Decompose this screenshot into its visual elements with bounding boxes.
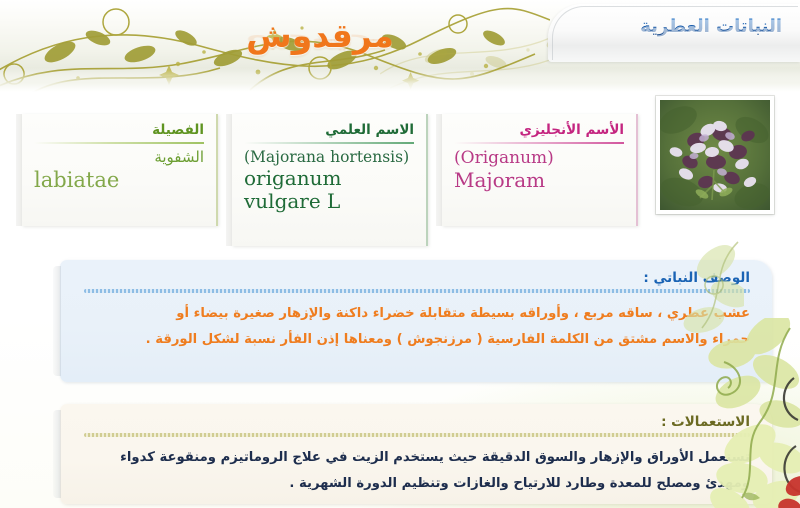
panel-description-rule [84, 289, 750, 293]
panel-uses-line-2: ومهدئ ومصلح للمعدة وطارد للارتياح والغاز… [84, 471, 750, 497]
panel-description-line-2: حمراء والاسم مشتق من الكلمة الفارسية ( م… [84, 327, 750, 353]
panel-uses-title: الاستعمالات : [84, 414, 750, 433]
card-english-synonym: (Origanum) [454, 149, 624, 169]
panel-uses-rule [84, 433, 750, 437]
card-scientific-synonym: (Majorana hortensis) [244, 149, 414, 167]
card-english-title: الأسم الأنجليزي [454, 122, 624, 142]
card-english-name: الأسم الأنجليزي (Origanum) Majoram [442, 114, 638, 226]
panel-uses-body: تستعمل الأوراق والإزهار والسوق الدقيقة ح… [84, 445, 750, 498]
card-family-rule [34, 142, 204, 144]
panel-botanical-description: الوصف النباتي : عشب عطري ، ساقه مربع ، و… [60, 260, 772, 382]
panel-description-body: عشب عطري ، ساقه مربع ، وأوراقه بسيطة متق… [84, 301, 750, 354]
card-scientific-name: الاسم العلمي (Majorana hortensis) origan… [232, 114, 428, 246]
card-scientific-genus: origanum [244, 167, 414, 190]
panel-description-line-1: عشب عطري ، ساقه مربع ، وأوراقه بسيطة متق… [84, 301, 750, 327]
card-family-latin-value: labiatae [34, 168, 204, 192]
card-family-title: الفصيلة [34, 122, 204, 142]
panel-uses-line-1: تستعمل الأوراق والإزهار والسوق الدقيقة ح… [84, 445, 750, 471]
card-scientific-title: الاسم العلمي [244, 122, 414, 142]
panel-description-title: الوصف النباتي : [84, 270, 750, 289]
card-family-body: الشفوية labiatae [34, 149, 204, 192]
card-family-arabic-value: الشفوية [34, 149, 204, 166]
page-root: النباتات العطرية مرقدوش مرقدوش الفصيلة ا… [0, 0, 800, 508]
card-scientific-rule [244, 142, 414, 144]
panel-uses: الاستعمالات : تستعمل الأوراق والإزهار وا… [60, 404, 772, 504]
card-family: الفصيلة الشفوية labiatae [22, 114, 218, 226]
page-title: مرقدوش [0, 16, 800, 55]
card-scientific-body: (Majorana hortensis) origanum vulgare L [244, 149, 414, 213]
card-english-value: Majoram [454, 169, 624, 192]
plant-photo-frame [656, 96, 774, 214]
card-english-body: (Origanum) Majoram [454, 149, 624, 192]
card-english-rule [454, 142, 624, 144]
marjoram-flowers-photo [660, 100, 770, 210]
card-scientific-species: vulgare L [244, 190, 414, 213]
